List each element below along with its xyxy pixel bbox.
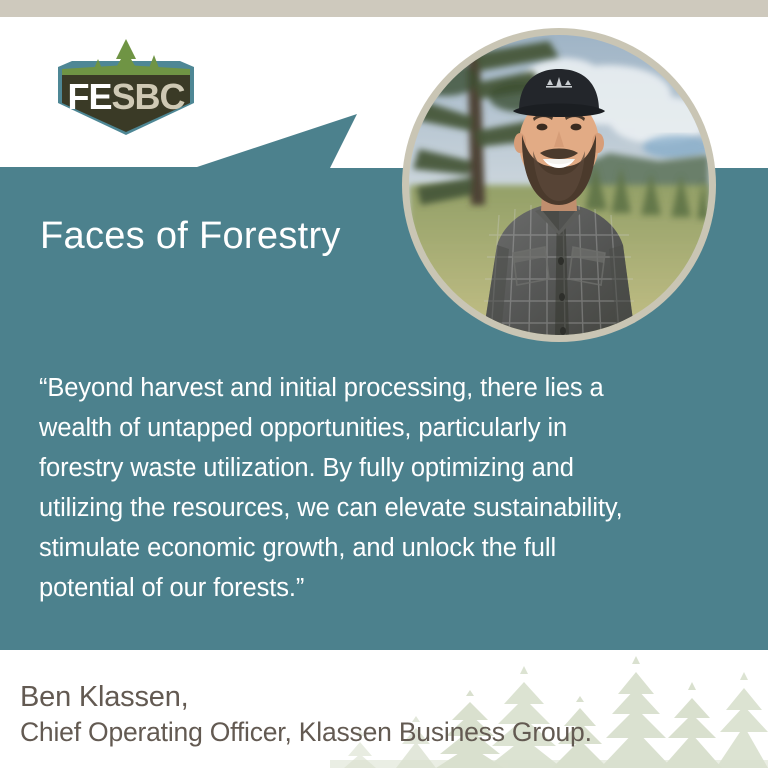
fesbc-logo: FESBC (52, 31, 200, 138)
person-name: Ben Klassen, (20, 679, 592, 715)
top-accent-strip (0, 0, 768, 17)
quote-line: “Beyond harvest and initial processing, … (39, 368, 711, 408)
attribution: Ben Klassen, Chief Operating Officer, Kl… (20, 679, 592, 750)
ben-klassen-portrait (409, 35, 709, 335)
page-title: Faces of Forestry (40, 216, 341, 258)
quote-line: stimulate economic growth, and unlock th… (39, 528, 711, 568)
faces-of-forestry-card: FESBC (0, 0, 768, 768)
person-role: Chief Operating Officer, Klassen Busines… (20, 715, 592, 750)
quote-text: “Beyond harvest and initial processing, … (39, 368, 711, 608)
portrait-ring (402, 28, 716, 342)
quote-line: forestry waste utilization. By fully opt… (39, 448, 711, 488)
quote-line: utilizing the resources, we can elevate … (39, 488, 711, 528)
svg-text:FESBC: FESBC (67, 76, 185, 117)
quote-line: wealth of untapped opportunities, partic… (39, 408, 711, 448)
quote-line: potential of our forests.” (39, 568, 711, 608)
